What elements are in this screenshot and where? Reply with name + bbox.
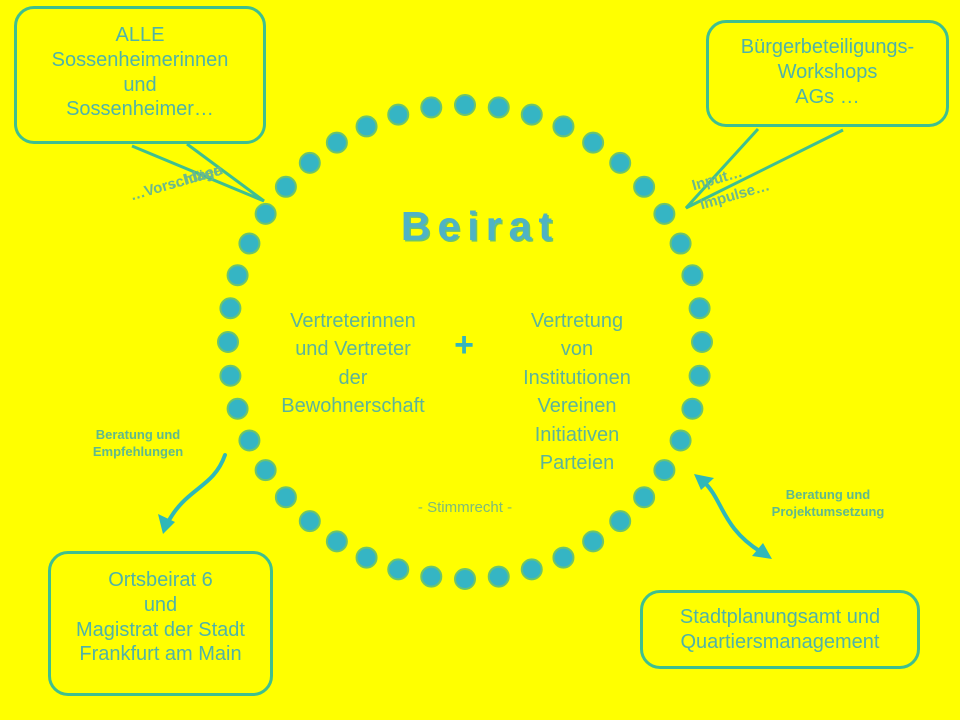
- ring-dot: [489, 97, 509, 117]
- ring-dot: [220, 366, 240, 386]
- ring-dot: [553, 548, 573, 568]
- box-line: Frankfurt am Main: [51, 642, 270, 667]
- ring-dot: [583, 531, 603, 551]
- arrowhead-projektumsetzung-end: [752, 543, 772, 559]
- box-line: Quartiersmanagement: [643, 630, 917, 655]
- annotation-vorschlaege: …Vorschläge: [128, 162, 224, 204]
- ring-dot: [690, 298, 710, 318]
- ring-dot: [300, 153, 320, 173]
- arrowhead-beratung-empfehlungen: [158, 514, 175, 534]
- ring-dot: [388, 105, 408, 125]
- box-line: und: [51, 593, 270, 618]
- ring-dot: [553, 116, 573, 136]
- box-stadtplanungsamt[interactable]: Stadtplanungsamt und Quartiersmanagement: [640, 590, 920, 669]
- ring-dot: [610, 511, 630, 531]
- box-ortsbeirat-magistrat[interactable]: Ortsbeirat 6 und Magistrat der Stadt Fra…: [48, 551, 273, 696]
- bubble-line: Sossenheimer…: [17, 97, 263, 122]
- column-line: und Vertreter: [268, 335, 438, 363]
- ring-dot: [388, 559, 408, 579]
- column-line: Institutionen: [492, 364, 662, 392]
- bubble-line: Bürgerbeteiligungs-: [709, 35, 946, 60]
- box-line: Magistrat der Stadt: [51, 618, 270, 643]
- ring-dot: [455, 95, 475, 115]
- annotation-line: Beratung und: [745, 487, 911, 504]
- ring-dot: [239, 430, 259, 450]
- column-line: Initiativen: [492, 421, 662, 449]
- bubble-buergerbeteiligung[interactable]: Bürgerbeteiligungs- Workshops AGs …: [706, 20, 949, 127]
- column-line: Parteien: [492, 449, 662, 477]
- ring-dot: [276, 487, 296, 507]
- ring-dot: [327, 531, 347, 551]
- column-line: Vereinen: [492, 392, 662, 420]
- ring-dot: [489, 567, 509, 587]
- ring-dot: [300, 511, 320, 531]
- column-line: der: [268, 364, 438, 392]
- plus-icon: +: [440, 328, 488, 362]
- annotation-line: Beratung und: [70, 427, 206, 444]
- bubble-alle-sossenheimer[interactable]: ALLE Sossenheimerinnen und Sossenheimer…: [14, 6, 266, 144]
- ring-dot: [228, 399, 248, 419]
- annotation-line: Projektumsetzung: [745, 504, 911, 521]
- bubble-line: Workshops: [709, 60, 946, 85]
- ring-dot: [455, 569, 475, 589]
- ring-dot: [671, 430, 691, 450]
- ring-dot: [690, 366, 710, 386]
- center-left-column: Vertreterinnen und Vertreter der Bewohne…: [268, 307, 438, 421]
- ring-dot: [583, 133, 603, 153]
- center-right-column: Vertretung von Institutionen Vereinen In…: [492, 307, 662, 477]
- ring-dot: [692, 332, 712, 352]
- ring-dot: [218, 332, 238, 352]
- ring-dot: [634, 177, 654, 197]
- ring-dot: [610, 153, 630, 173]
- column-line: von: [492, 335, 662, 363]
- ring-dot: [421, 97, 441, 117]
- ring-dot: [421, 567, 441, 587]
- box-line: Ortsbeirat 6: [51, 568, 270, 593]
- column-line: Vertretung: [492, 307, 662, 335]
- annotation-line: Empfehlungen: [70, 444, 206, 461]
- ring-dot: [357, 548, 377, 568]
- column-line: Vertreterinnen: [268, 307, 438, 335]
- ring-dot: [522, 105, 542, 125]
- ring-dot: [357, 116, 377, 136]
- ring-dot: [682, 399, 702, 419]
- bubble-line: AGs …: [709, 85, 946, 110]
- ring-dot: [256, 460, 276, 480]
- ring-dot: [276, 177, 296, 197]
- ring-dot: [327, 133, 347, 153]
- ring-dot: [682, 265, 702, 285]
- stimmrecht-footnote: - Stimmrecht -: [370, 499, 560, 516]
- annotation-beratung-empfehlungen: Beratung und Empfehlungen: [70, 427, 206, 461]
- ring-dot: [220, 298, 240, 318]
- diagram-canvas: ALLE Sossenheimerinnen und Sossenheimer……: [0, 0, 960, 720]
- ring-dot: [228, 265, 248, 285]
- arrow-beratung-empfehlungen: [167, 455, 225, 524]
- ring-dot: [634, 487, 654, 507]
- column-line: Bewohnerschaft: [268, 392, 438, 420]
- bubble-line: Sossenheimerinnen: [17, 48, 263, 73]
- annotation-beratung-projektumsetzung: Beratung und Projektumsetzung: [745, 487, 911, 521]
- box-line: Stadtplanungsamt und: [643, 605, 917, 630]
- ring-dot: [522, 559, 542, 579]
- bubble-line: ALLE: [17, 23, 263, 48]
- arrowhead-projektumsetzung-start: [694, 474, 714, 490]
- bubble-line: und: [17, 73, 263, 98]
- center-title-beirat: Beirat: [0, 203, 960, 250]
